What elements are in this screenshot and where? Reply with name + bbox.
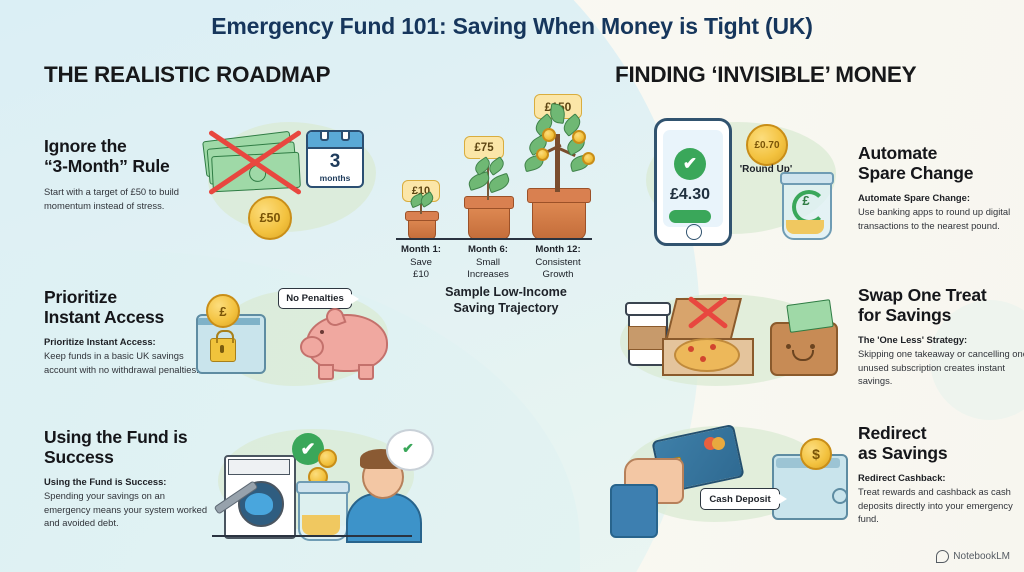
wallet-eye (786, 344, 791, 349)
sleeve (610, 484, 658, 538)
section-heading-right: FINDING ‘INVISIBLE’ MONEY (615, 62, 916, 88)
chart-fruit-coin (542, 128, 556, 142)
right-block-2-lead: The 'One Less' Strategy: (858, 334, 1024, 347)
chart-x-label-2: Month 12: Consistent Growth (518, 244, 598, 282)
right-block-2-heading: Swap One Treat for Savings (858, 286, 1024, 326)
illustration-phone-roundup: ✔ £4.30 £0.70 'Round Up' £ (636, 112, 846, 247)
chart-trunk-2 (555, 134, 560, 192)
right-block-3-body: Treat rewards and cashback as cash depos… (858, 485, 1024, 526)
chart-pot-1 (468, 204, 510, 240)
left-text-block-1: Ignore the “3-Month” Rule Start with a t… (44, 137, 212, 212)
chart-pot-2 (532, 198, 586, 240)
savings-jar-lid (780, 172, 834, 185)
chart-baseline (396, 238, 592, 240)
chart-leaf-1 (486, 173, 511, 194)
piggy-bank-snout (300, 336, 324, 358)
piggy-bank-leg (358, 364, 374, 380)
washer-panel (228, 459, 290, 475)
chart-fruit-coin (582, 152, 595, 165)
dollar-coin: $ (800, 438, 832, 470)
smartphone-icon (654, 118, 732, 246)
left-block-3-lead: Using the Fund is Success: (44, 476, 212, 489)
jar-coins (302, 515, 340, 535)
roundup-coin: £0.70 (746, 124, 788, 166)
illustration-treat-swap (606, 288, 854, 396)
phone-home-button (686, 224, 702, 240)
right-block-1-body: Use banking apps to round up digital tra… (858, 205, 1024, 232)
chart-pot-rim-0 (405, 211, 439, 221)
calendar-unit: months (308, 173, 362, 183)
coffee-sleeve (628, 326, 666, 350)
left-text-block-3: Using the Fund is Success Using the Fund… (44, 428, 212, 530)
right-block-3-heading: Redirect as Savings (858, 424, 1024, 464)
left-block-2-heading: Prioritize Instant Access (44, 288, 212, 328)
calendar-icon: 3 months (306, 130, 364, 188)
green-check-icon: ✔ (396, 437, 420, 459)
chart-x-label-1: Month 6: Small Increases (448, 244, 528, 282)
green-check-icon: ✔ (674, 148, 706, 180)
page-title: Emergency Fund 101: Saving When Money is… (0, 13, 1024, 40)
illustration-cash-calendar: 3 months £50 (196, 112, 386, 240)
left-block-2-lead: Prioritize Instant Access: (44, 336, 212, 349)
illustration-cashback-deposit: $ Cash Deposit (604, 422, 852, 540)
phone-amount: £4.30 (654, 186, 726, 204)
right-block-3-lead: Redirect Cashback: (858, 472, 1024, 485)
cash-deposit-tag: Cash Deposit (700, 488, 780, 510)
section-heading-left: THE REALISTIC ROADMAP (44, 62, 330, 88)
chart-value-label-1: £75 (464, 136, 504, 159)
coffee-cup-lid (625, 302, 671, 316)
right-block-1-lead: Automate Spare Change: (858, 192, 1024, 205)
watermark-label: NotebookLM (953, 551, 1010, 562)
jar-coins (786, 220, 824, 234)
pizza-icon (674, 338, 740, 372)
pizza-topping (688, 346, 694, 352)
right-text-block-3: Redirect as Savings Redirect Cashback: T… (858, 424, 1024, 526)
infographic-canvas: Emergency Fund 101: Saving When Money is… (0, 0, 1024, 572)
washer-drum-inner (245, 493, 273, 515)
left-block-2-body: Keep funds in a basic UK savings account… (44, 349, 212, 376)
wallet-clasp (832, 488, 848, 504)
pound-coin: £ (206, 294, 240, 328)
notebooklm-icon (936, 550, 949, 563)
left-block-1-body: Start with a target of £50 to build mome… (44, 185, 212, 212)
notebooklm-watermark: NotebookLM (936, 550, 1010, 563)
left-text-block-2: Prioritize Instant Access Prioritize Ins… (44, 288, 212, 376)
right-block-2-body: Skipping one takeaway or cancelling one … (858, 347, 1024, 388)
coin-fifty: £50 (248, 196, 292, 240)
card-logo-icon (712, 437, 725, 450)
chart-fruit-coin (536, 148, 549, 161)
left-block-3-heading: Using the Fund is Success (44, 428, 212, 468)
right-text-block-2: Swap One Treat for Savings The 'One Less… (858, 286, 1024, 388)
piggy-bank-leg (318, 364, 334, 380)
pizza-topping (700, 356, 706, 362)
no-penalties-tag: No Penalties (278, 288, 352, 309)
right-block-1-heading: Automate Spare Change (858, 144, 1024, 184)
right-text-block-1: Automate Spare Change Automate Spare Cha… (858, 144, 1024, 232)
chart-fruit-coin (572, 130, 586, 144)
table-line (212, 535, 412, 537)
left-block-3-body: Spending your savings on an emergency me… (44, 489, 212, 530)
piggy-bank-eye (320, 330, 324, 334)
falling-coin (318, 449, 337, 468)
jar-pound-symbol: £ (798, 193, 814, 208)
coin-jar-lid (296, 481, 350, 494)
chart-caption: Sample Low-Income Saving Trajectory (406, 285, 606, 317)
pizza-topping (710, 344, 716, 350)
calendar-number: 3 (308, 151, 362, 173)
illustration-wallet-piggybank: £ No Penalties (196, 282, 396, 392)
illustration-washer-person: ✔ ✔ (200, 415, 430, 540)
wallet-eye (810, 344, 815, 349)
lock-keyhole (220, 345, 224, 353)
phone-action-button[interactable] (669, 210, 711, 223)
left-block-1-heading: Ignore the “3-Month” Rule (44, 137, 212, 177)
